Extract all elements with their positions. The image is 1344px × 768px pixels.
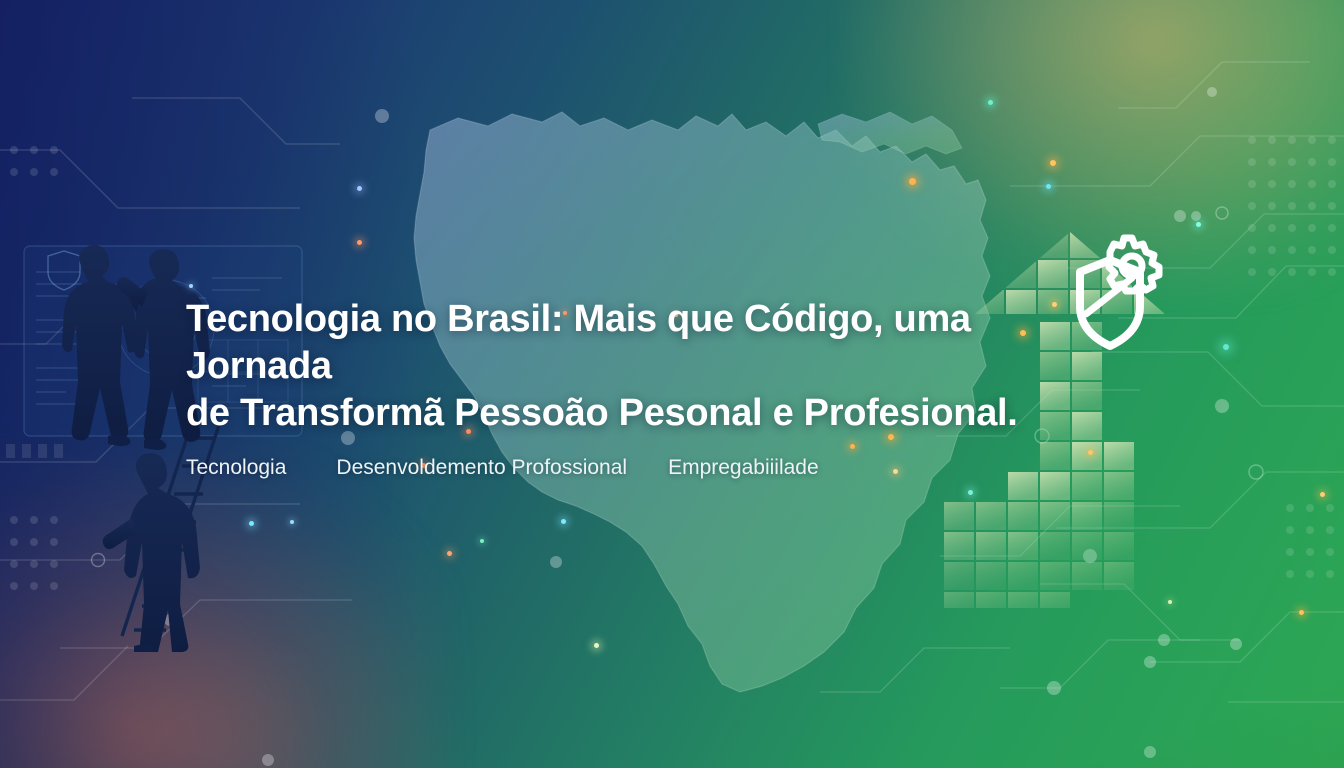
vignette-overlay	[0, 0, 1344, 768]
hero-banner: Tecnologia no Brasil: Mais que Código, u…	[0, 0, 1344, 768]
